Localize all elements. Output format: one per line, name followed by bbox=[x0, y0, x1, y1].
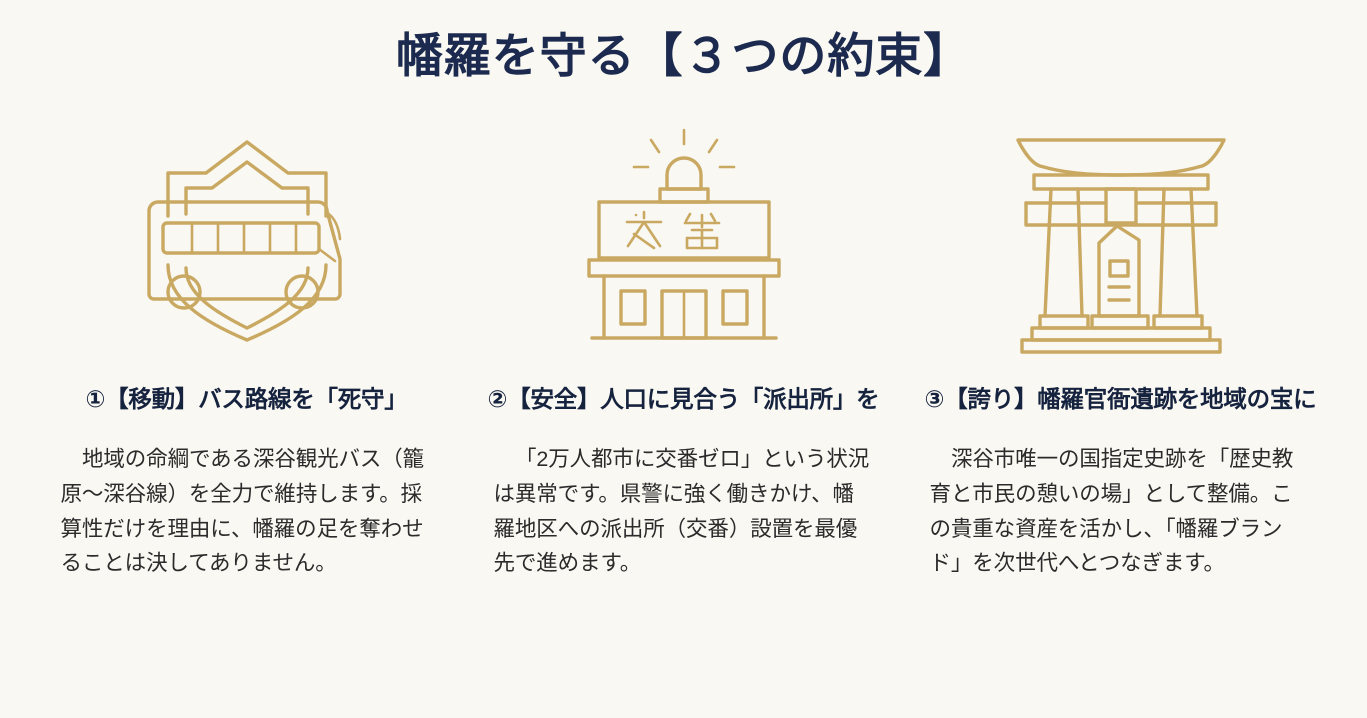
promise-card-2: ②【安全】人口に見合う「派出所」を 「2万人都市に交番ゼロ」という状況は異常です… bbox=[465, 110, 902, 581]
torii-gate-icon bbox=[996, 110, 1246, 360]
promise-heading-3: ③【誇り】幡羅官衙遺跡を地域の宝に bbox=[925, 384, 1317, 415]
promise-heading-1: ①【移動】バス路線を「死守」 bbox=[85, 384, 407, 415]
promise-body-1: 地域の命綱である深谷観光バス（籠原～深谷線）を全力で維持します。採算性だけを理由… bbox=[61, 442, 433, 581]
title-area: 幡羅を守る【３つの約束】 bbox=[0, 0, 1367, 84]
slide-root: 幡羅を守る【３つの約束】 bbox=[0, 0, 1367, 718]
police-box-icon bbox=[559, 110, 809, 360]
promise-body-3: 深谷市唯一の国指定史跡を「歴史教育と市民の憩いの場」として整備。この貴重な資産を… bbox=[930, 442, 1312, 581]
promise-heading-2: ②【安全】人口に見合う「派出所」を bbox=[488, 384, 880, 415]
shield-bus-icon bbox=[122, 110, 372, 360]
promise-card-3: ③【誇り】幡羅官衙遺跡を地域の宝に 深谷市唯一の国指定史跡を「歴史教育と市民の憩… bbox=[902, 110, 1339, 581]
page-title: 幡羅を守る【３つの約束】 bbox=[0, 28, 1367, 84]
promise-columns: ①【移動】バス路線を「死守」 地域の命綱である深谷観光バス（籠原～深谷線）を全力… bbox=[0, 110, 1367, 718]
promise-card-1: ①【移動】バス路線を「死守」 地域の命綱である深谷観光バス（籠原～深谷線）を全力… bbox=[28, 110, 465, 581]
promise-body-2: 「2万人都市に交番ゼロ」という状況は異常です。県警に強く働きかけ、幡羅地区への派… bbox=[494, 442, 874, 581]
